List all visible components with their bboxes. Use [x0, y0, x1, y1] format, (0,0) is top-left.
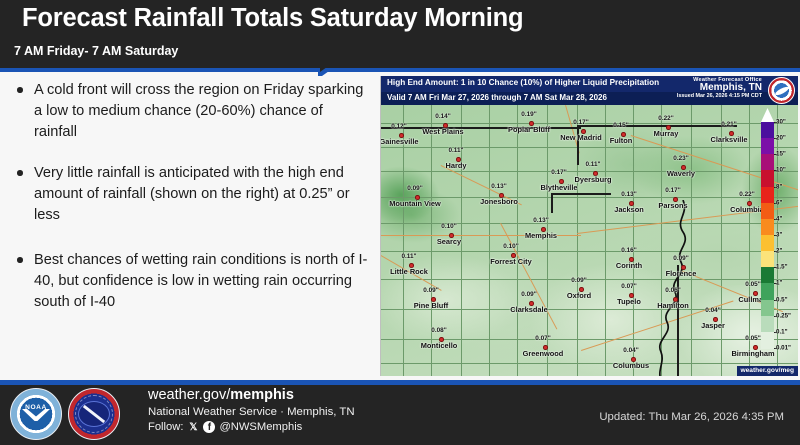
colorbar-segment [761, 122, 774, 139]
colorbar-segment [761, 235, 774, 252]
colorbar-label: 3" [776, 232, 782, 239]
city-value: 0.04" [705, 307, 720, 314]
city-name: Murray [654, 130, 679, 138]
city-value: 0.09" [423, 287, 438, 294]
colorbar-segment [761, 283, 774, 300]
city-value: 0.09" [571, 277, 586, 284]
colorbar-segment [761, 316, 774, 333]
city-name: Parsons [658, 202, 687, 210]
colorbar-label: 2" [776, 248, 782, 255]
x-twitter-icon[interactable]: 𝕏 [187, 421, 199, 433]
list-item: A cold front will cross the region on Fr… [8, 80, 368, 143]
colorbar-segment [761, 170, 774, 187]
city-name: New Madrid [560, 134, 601, 142]
city-value: 0.08" [431, 327, 446, 334]
city-name: Columbia [730, 206, 764, 214]
city-name: Dyersburg [575, 176, 612, 184]
header-bar: Forecast Rainfall Totals Saturday Mornin… [0, 0, 800, 68]
colorbar-label: 0.5" [776, 296, 788, 303]
city-name: Oxford [567, 292, 591, 300]
website-line[interactable]: weather.gov/memphis [148, 387, 355, 403]
bullet-text: A cold front will cross the region on Fr… [34, 82, 363, 140]
city-name: Little Rock [390, 268, 428, 276]
city-value: 0.06" [665, 287, 680, 294]
noaa-logo-text: NOAA [25, 404, 47, 411]
bullet-dot-icon [17, 87, 23, 93]
list-item: Best chances of wetting rain conditions … [8, 250, 368, 313]
brand-block: weather.gov/memphis National Weather Ser… [148, 387, 355, 433]
bullet-dot-icon [17, 170, 23, 176]
city-name: Hamilton [657, 302, 689, 310]
bullet-text: Best chances of wetting rain conditions … [34, 252, 367, 310]
map-credit-label: weather.gov/meg [737, 366, 799, 377]
follow-label: Follow: [148, 421, 183, 433]
city-name: Blytheville [541, 184, 578, 192]
colorbar-label: 8" [776, 183, 782, 190]
city-value: 0.22" [739, 191, 754, 198]
legend-colorbar: 30"20"15"10"8"6"4"3"2"1.5"1"0.5"0.25"0.1… [761, 108, 774, 348]
colorbar-label: 4" [776, 215, 782, 222]
nws-logo-icon [68, 388, 120, 440]
city-name: Forrest City [490, 258, 531, 266]
city-name: Jonesboro [480, 198, 518, 206]
website-url: weather.gov/ [148, 387, 230, 403]
city-value: 0.15" [613, 122, 628, 129]
office-name: National Weather Service · Memphis, TN [148, 406, 355, 418]
city-value: 0.09" [521, 291, 536, 298]
city-value: 0.13" [533, 217, 548, 224]
city-name: West Plains [422, 128, 463, 136]
colorbar-segment [761, 251, 774, 268]
city-name: Hardy [446, 162, 467, 170]
city-value: 0.10" [503, 243, 518, 250]
weather-forecast-office-label: Weather Forecast Office Memphis, TN Issu… [677, 77, 762, 99]
city-value: 0.11" [448, 147, 463, 154]
colorbar-label: 0.1" [776, 328, 788, 335]
colorbar-label: 20" [776, 135, 786, 142]
colorbar-label: 6" [776, 199, 782, 206]
city-name: Searcy [437, 238, 461, 246]
social-line: Follow: 𝕏 f @NWSMemphis [148, 421, 355, 433]
city-name: Birmingham [731, 350, 774, 358]
colorbar-segment [761, 219, 774, 236]
bullet-dot-icon [17, 257, 23, 263]
city-value: 0.13" [621, 191, 636, 198]
page-subtitle: 7 AM Friday- 7 AM Saturday [14, 44, 178, 58]
city-value: 0.11" [585, 161, 600, 168]
colorbar-label: 30" [776, 119, 786, 126]
page-title: Forecast Rainfall Totals Saturday Mornin… [22, 4, 523, 33]
city-name: Gainesville [380, 138, 419, 146]
city-value: 0.23" [673, 155, 688, 162]
colorbar-label: 1.5" [776, 264, 788, 271]
colorbar-segment [761, 187, 774, 204]
city-value: 0.17" [551, 169, 566, 176]
map-header-title: High End Amount: 1 in 10 Chance (10%) of… [387, 78, 659, 87]
colorbar-segment [761, 203, 774, 220]
website-url-bold: memphis [230, 387, 294, 403]
colorbar-label: 0.25" [776, 312, 791, 319]
colorbar-segment [761, 332, 774, 349]
city-name: Florence [666, 270, 697, 278]
wfo-line2: Memphis, TN [677, 82, 762, 93]
wfo-issued: Issued Mar 26, 2026 4:15 PM CDT [677, 93, 762, 99]
city-value: 0.17" [573, 119, 588, 126]
colorbar-label: 10" [776, 167, 786, 174]
city-name: Columbus [613, 362, 649, 370]
colorbar-label: 0.01" [776, 345, 791, 352]
city-value: 0.11" [401, 253, 416, 260]
colorbar-segment [761, 300, 774, 317]
city-value: 0.14" [435, 113, 450, 120]
city-name: Tupelo [617, 298, 641, 306]
city-name: Corinth [616, 262, 642, 270]
city-value: 0.13" [491, 183, 506, 190]
colorbar-label: 1" [776, 280, 782, 287]
city-value: 0.09" [407, 185, 422, 192]
city-value: 0.21" [721, 121, 736, 128]
city-value: 0.07" [535, 335, 550, 342]
updated-timestamp: Updated: Thu Mar 26, 2026 4:35 PM [599, 411, 784, 423]
bullet-text: Very little rainfall is anticipated with… [34, 165, 350, 223]
city-value: 0.07" [621, 283, 636, 290]
city-value: 0.16" [621, 247, 636, 254]
forecast-map[interactable]: 0.12"Gainesville0.14"West Plains0.19"Pop… [380, 76, 798, 376]
map-valid-period: Valid 7 AM Fri Mar 27, 2026 through 7 AM… [387, 93, 607, 102]
city-name: Greenwood [523, 350, 564, 358]
city-name: Memphis [525, 232, 557, 240]
city-name: Jackson [614, 206, 644, 214]
city-name: Jasper [701, 322, 725, 330]
city-name: Mountain View [389, 200, 441, 208]
colorbar-label: 15" [776, 151, 786, 158]
facebook-icon[interactable]: f [203, 421, 215, 433]
city-name: Fulton [610, 137, 633, 145]
colorbar-segment [761, 154, 774, 171]
city-value: 0.12" [391, 123, 406, 130]
city-value: 0.04" [623, 347, 638, 354]
city-name: Monticello [421, 342, 458, 350]
noaa-logo-icon: NOAA [10, 388, 62, 440]
nws-seal-icon [768, 77, 795, 104]
city-value: 0.17" [665, 187, 680, 194]
bullet-list: A cold front will cross the region on Fr… [8, 80, 368, 333]
list-item: Very little rainfall is anticipated with… [8, 163, 368, 226]
colorbar-segment [761, 267, 774, 284]
city-value: 0.22" [658, 115, 673, 122]
city-value: 0.10" [441, 223, 456, 230]
city-name: Pine Bluff [414, 302, 449, 310]
city-name: Waverly [667, 170, 695, 178]
city-name: Poplar Bluff [508, 126, 550, 134]
city-value: 0.19" [521, 111, 536, 118]
city-name: Clarksville [711, 136, 748, 144]
colorbar-arrow-icon [761, 108, 774, 122]
colorbar-segment [761, 138, 774, 155]
social-handle: @NWSMemphis [219, 421, 302, 433]
city-name: Clarksdale [510, 306, 547, 314]
city-value: 0.09" [673, 255, 688, 262]
city-value: 0.05" [745, 335, 760, 342]
city-value: 0.05" [745, 281, 760, 288]
